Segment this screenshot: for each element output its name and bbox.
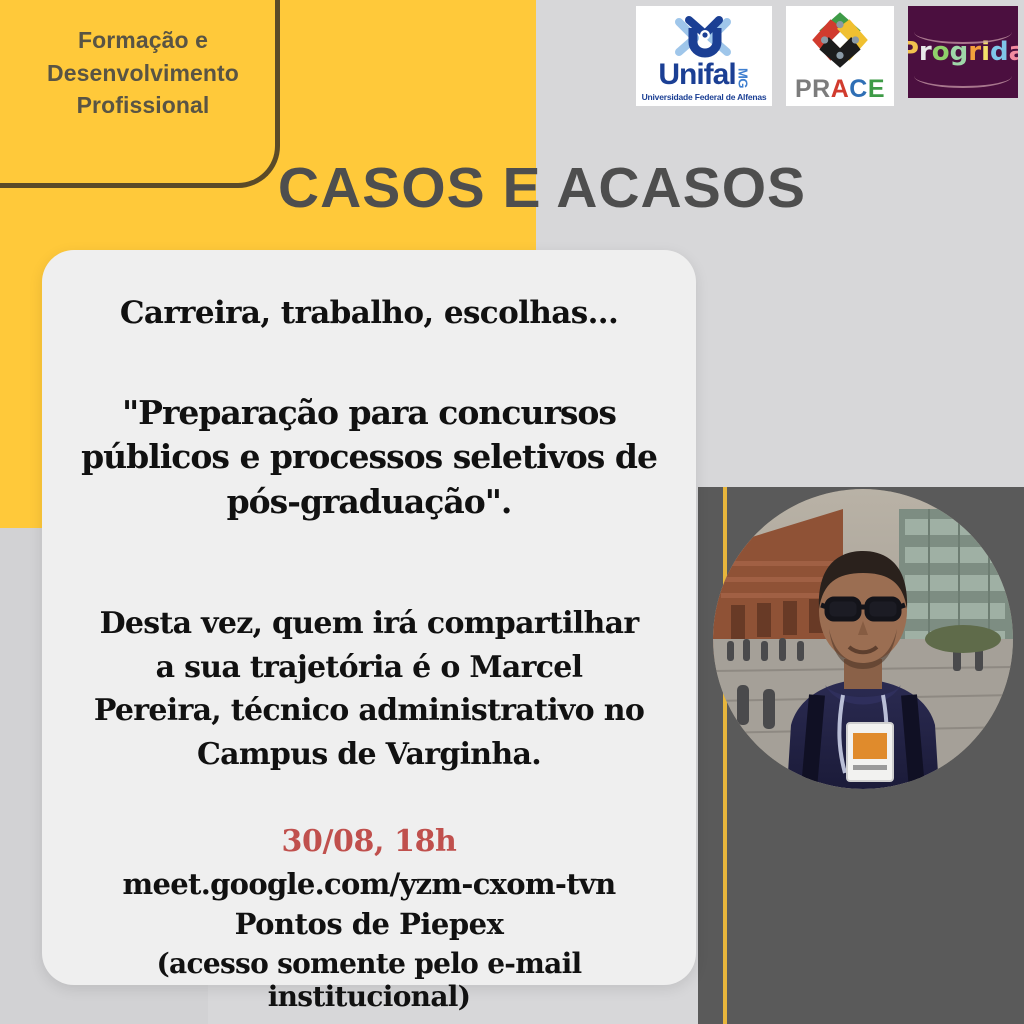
progrida-letter-2: r: [919, 37, 932, 67]
progrida-letter-8: a: [1009, 37, 1018, 67]
prace-logo: PRACE: [786, 6, 894, 106]
progrida-swoosh-bottom-icon: [914, 64, 1012, 88]
department-title-line-2: Desenvolvimento: [0, 57, 286, 90]
department-title: Formação e Desenvolvimento Profissional: [0, 24, 286, 122]
prace-letter-c: C: [849, 75, 868, 103]
unifal-mg-suffix: MG: [737, 68, 750, 88]
prace-letter-a: A: [831, 75, 850, 103]
prace-letter-r: R: [812, 75, 831, 103]
content-card: Carreira, trabalho, escolhas... "Prepara…: [42, 250, 696, 985]
unifal-word-text: Unifal: [658, 60, 735, 90]
prace-letter-e: E: [868, 75, 885, 103]
event-datetime: 30/08, 18h: [72, 824, 666, 859]
logo-row: Unifal MG Universidade Federal de Alfena…: [636, 6, 1018, 106]
progrida-logo: Progrida: [908, 6, 1018, 98]
card-topic-text: "Preparação para concursos públicos e pr…: [72, 391, 666, 525]
event-place: Pontos de Piepex: [72, 907, 666, 941]
unifal-mg-logo: Unifal MG Universidade Federal de Alfena…: [636, 6, 772, 106]
unifal-emblem-icon: [665, 12, 743, 60]
page-title: CASOS E ACASOS: [0, 160, 1024, 217]
prace-letter-p: P: [795, 75, 812, 103]
meeting-link[interactable]: meet.google.com/yzm-cxom-tvn: [72, 867, 666, 901]
unifal-subtitle: Universidade Federal de Alfenas: [642, 92, 767, 102]
progrida-swoosh-top-icon: [914, 20, 1012, 44]
progrida-letter-1: P: [908, 37, 919, 67]
access-note: (acesso somente pelo e-mail instituciona…: [72, 947, 666, 1013]
department-title-line-3: Profissional: [0, 89, 286, 122]
unifal-wordmark: Unifal MG: [658, 60, 749, 90]
card-lead-text: Carreira, trabalho, escolhas...: [72, 294, 666, 333]
poster-canvas: Formação e Desenvolvimento Profissional: [0, 0, 1024, 1024]
department-title-line-1: Formação e: [0, 24, 286, 57]
prace-emblem-icon: [810, 11, 870, 74]
prace-wordmark: PRACE: [795, 77, 885, 102]
card-body-text: Desta vez, quem irá compartilhar a sua t…: [72, 602, 666, 776]
speaker-photo: [713, 489, 1013, 789]
yellow-vertical-accent-line: [723, 487, 727, 1024]
